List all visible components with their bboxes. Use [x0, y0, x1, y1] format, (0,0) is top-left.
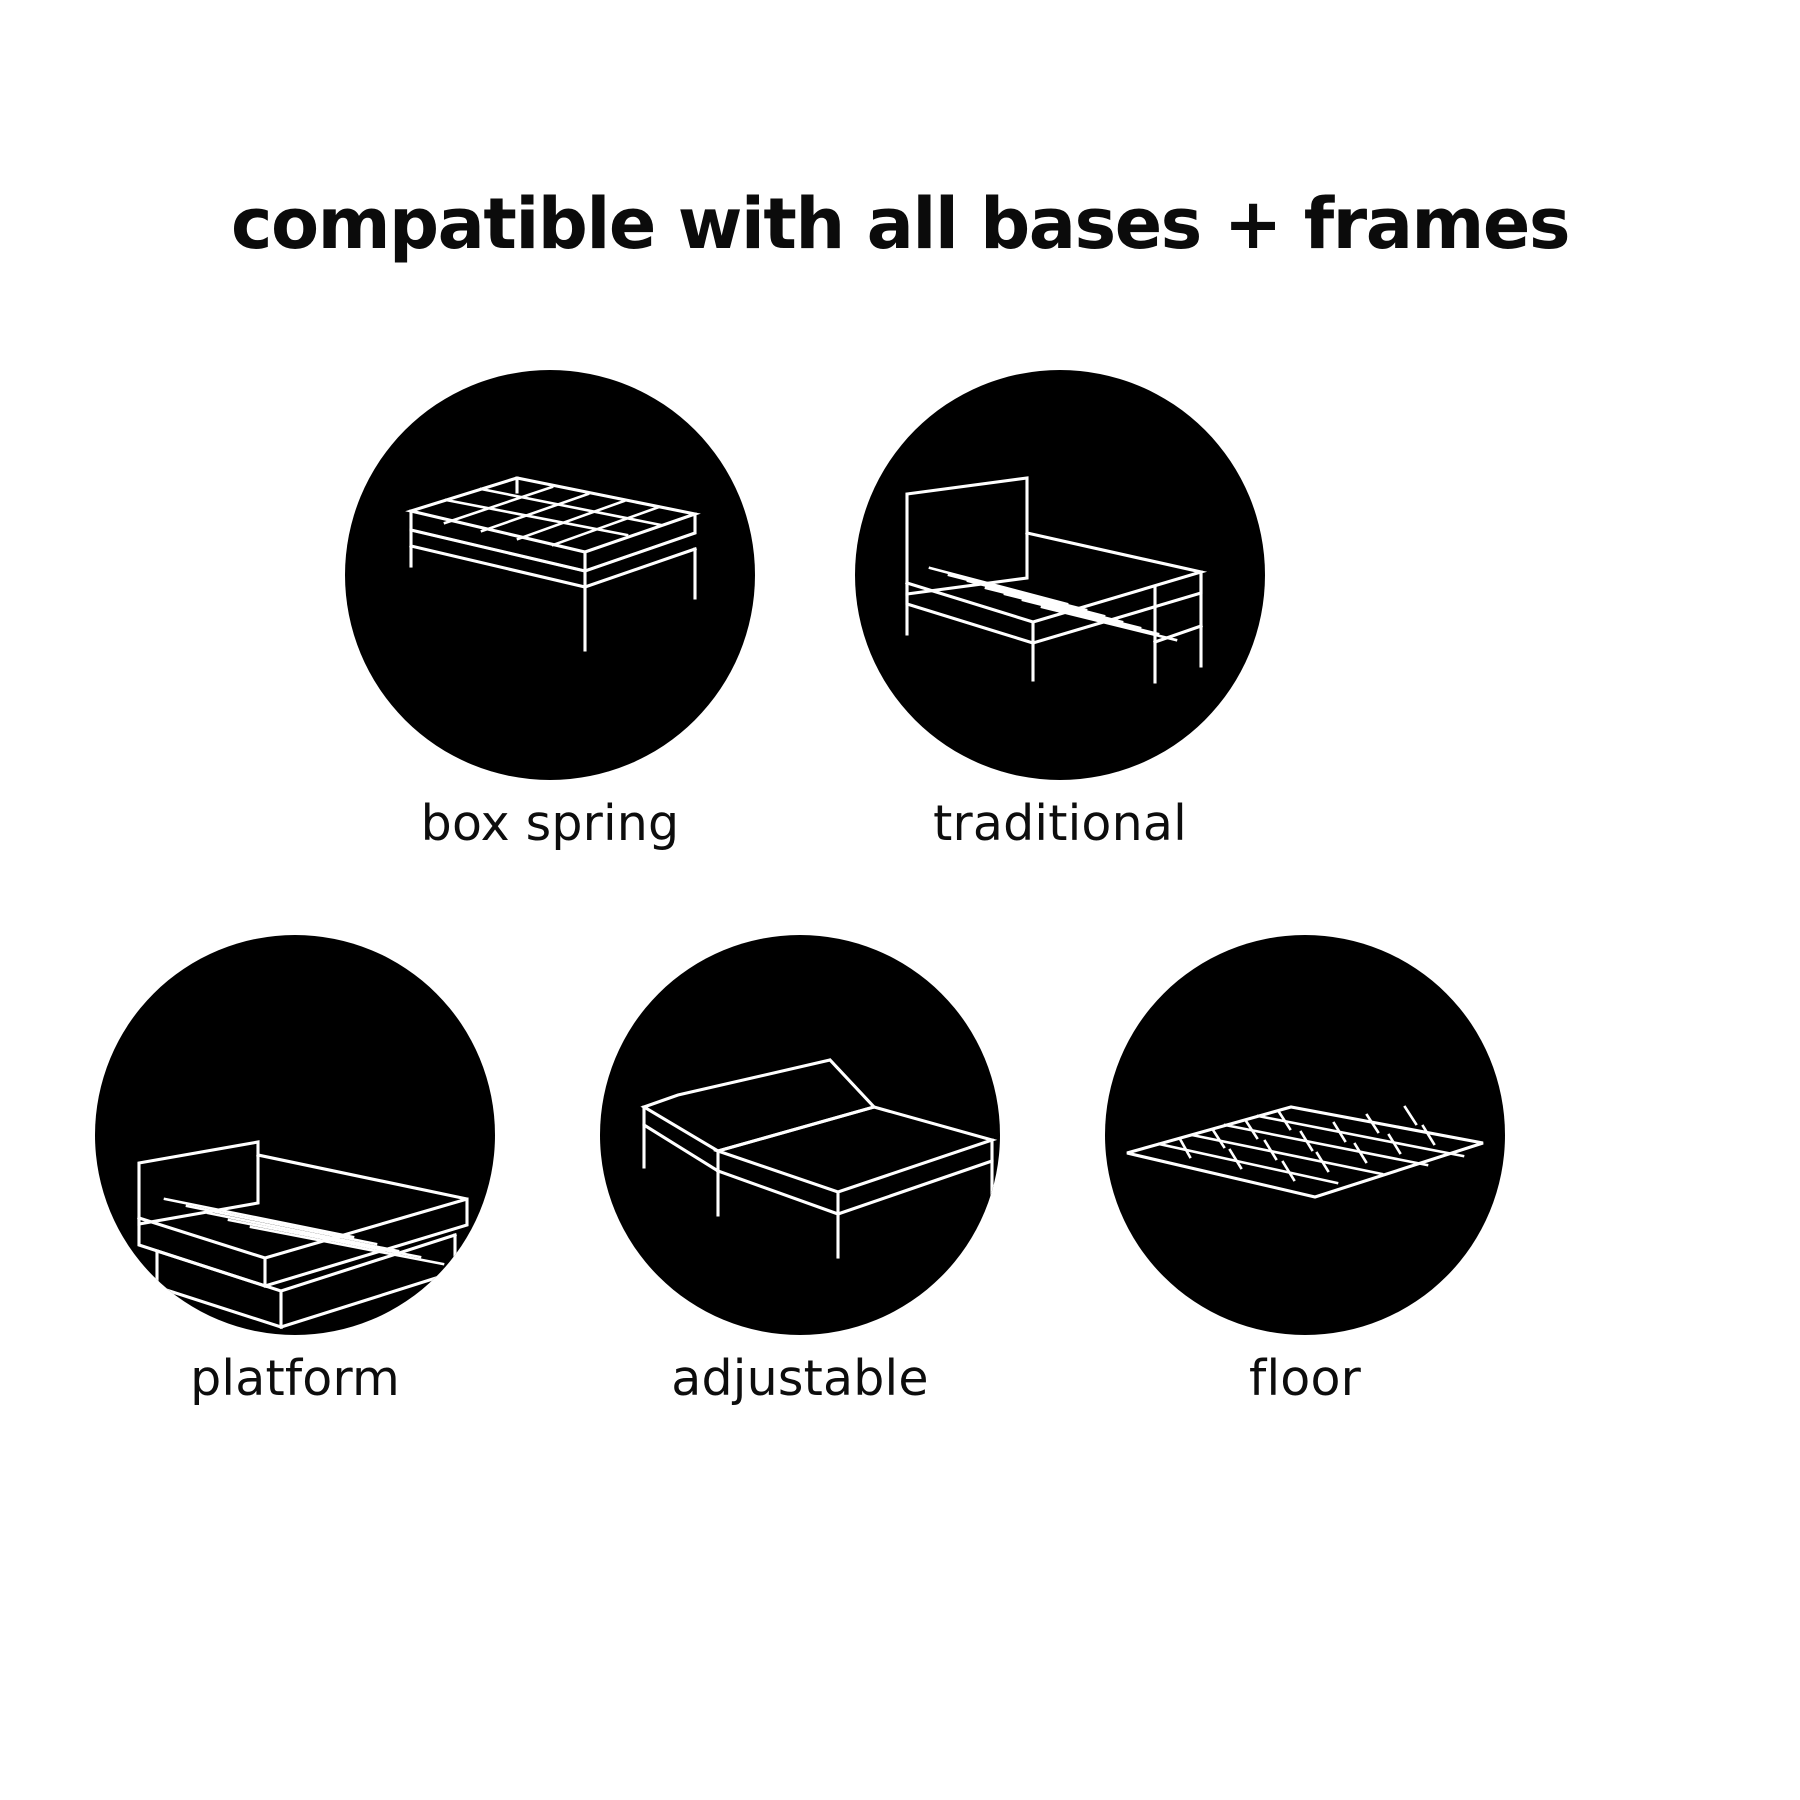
- caption-platform: platform: [190, 1350, 400, 1408]
- adjustable-base-icon: [600, 935, 1000, 1335]
- traditional-icon-disc: [855, 370, 1265, 780]
- platform-icon-disc: [95, 935, 495, 1335]
- traditional-bed-frame-icon: [855, 370, 1265, 780]
- box-spring-bed-icon: [345, 370, 755, 780]
- adjustable-icon-disc: [600, 935, 1000, 1335]
- base-option-floor[interactable]: floor: [1105, 935, 1505, 1335]
- base-option-box-spring[interactable]: box spring: [345, 370, 755, 780]
- base-option-traditional[interactable]: traditional: [855, 370, 1265, 780]
- page-title: compatible with all bases + frames: [0, 182, 1800, 266]
- floor-icon-disc: [1105, 935, 1505, 1335]
- caption-traditional: traditional: [933, 795, 1187, 853]
- caption-adjustable: adjustable: [671, 1350, 928, 1408]
- base-option-adjustable[interactable]: adjustable: [600, 935, 1000, 1335]
- platform-bed-icon: [95, 935, 495, 1335]
- caption-floor: floor: [1249, 1350, 1361, 1408]
- box-spring-icon-disc: [345, 370, 755, 780]
- caption-box-spring: box spring: [421, 795, 680, 853]
- infographic-canvas: compatible with all bases + frames: [0, 0, 1800, 1800]
- floor-planks-icon: [1105, 935, 1505, 1335]
- base-option-platform[interactable]: platform: [95, 935, 495, 1335]
